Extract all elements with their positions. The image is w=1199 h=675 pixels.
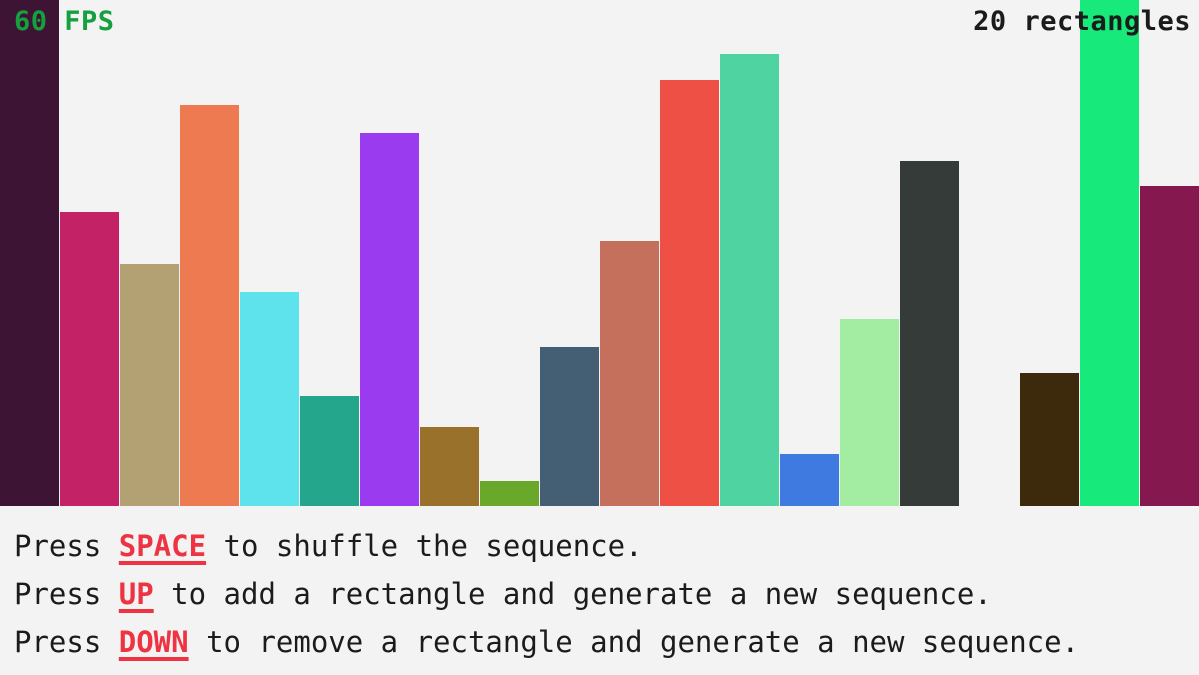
bar-11 [600, 241, 659, 506]
key-label-down[interactable]: DOWN [119, 625, 189, 659]
rectangle-shuffle-app: 60 FPS 20 rectangles Press SPACE to shuf… [0, 0, 1199, 675]
bar-5 [240, 292, 299, 506]
bar-7 [360, 133, 419, 506]
instruction-prefix: Press [14, 577, 119, 611]
bar-chart-canvas[interactable] [0, 0, 1199, 506]
bar-14 [780, 454, 839, 506]
bar-1 [0, 0, 59, 506]
instruction-suffix: to shuffle the sequence. [206, 529, 643, 563]
instructions-panel: Press SPACE to shuffle the sequence.Pres… [0, 506, 1199, 675]
instruction-line-1: Press SPACE to shuffle the sequence. [0, 522, 1199, 570]
rectangle-count-label: 20 rectangles [973, 8, 1191, 35]
key-label-space[interactable]: SPACE [119, 529, 206, 563]
bar-10 [540, 347, 599, 506]
bar-19 [1080, 0, 1139, 506]
bar-8 [420, 427, 479, 506]
bar-20 [1140, 186, 1199, 506]
bar-9 [480, 481, 539, 506]
bar-18 [1020, 373, 1079, 506]
instruction-line-3: Press DOWN to remove a rectangle and gen… [0, 618, 1199, 666]
instruction-suffix: to add a rectangle and generate a new se… [154, 577, 992, 611]
bar-12 [660, 80, 719, 506]
key-label-up[interactable]: UP [119, 577, 154, 611]
bar-2 [60, 212, 119, 506]
bar-4 [180, 105, 239, 506]
instruction-suffix: to remove a rectangle and generate a new… [189, 625, 1079, 659]
bar-13 [720, 54, 779, 506]
bar-6 [300, 396, 359, 506]
fps-counter: 60 FPS [14, 8, 115, 35]
instruction-prefix: Press [14, 625, 119, 659]
instruction-prefix: Press [14, 529, 119, 563]
bar-15 [840, 319, 899, 506]
instruction-line-2: Press UP to add a rectangle and generate… [0, 570, 1199, 618]
bar-3 [120, 264, 179, 506]
bar-16 [900, 161, 959, 506]
